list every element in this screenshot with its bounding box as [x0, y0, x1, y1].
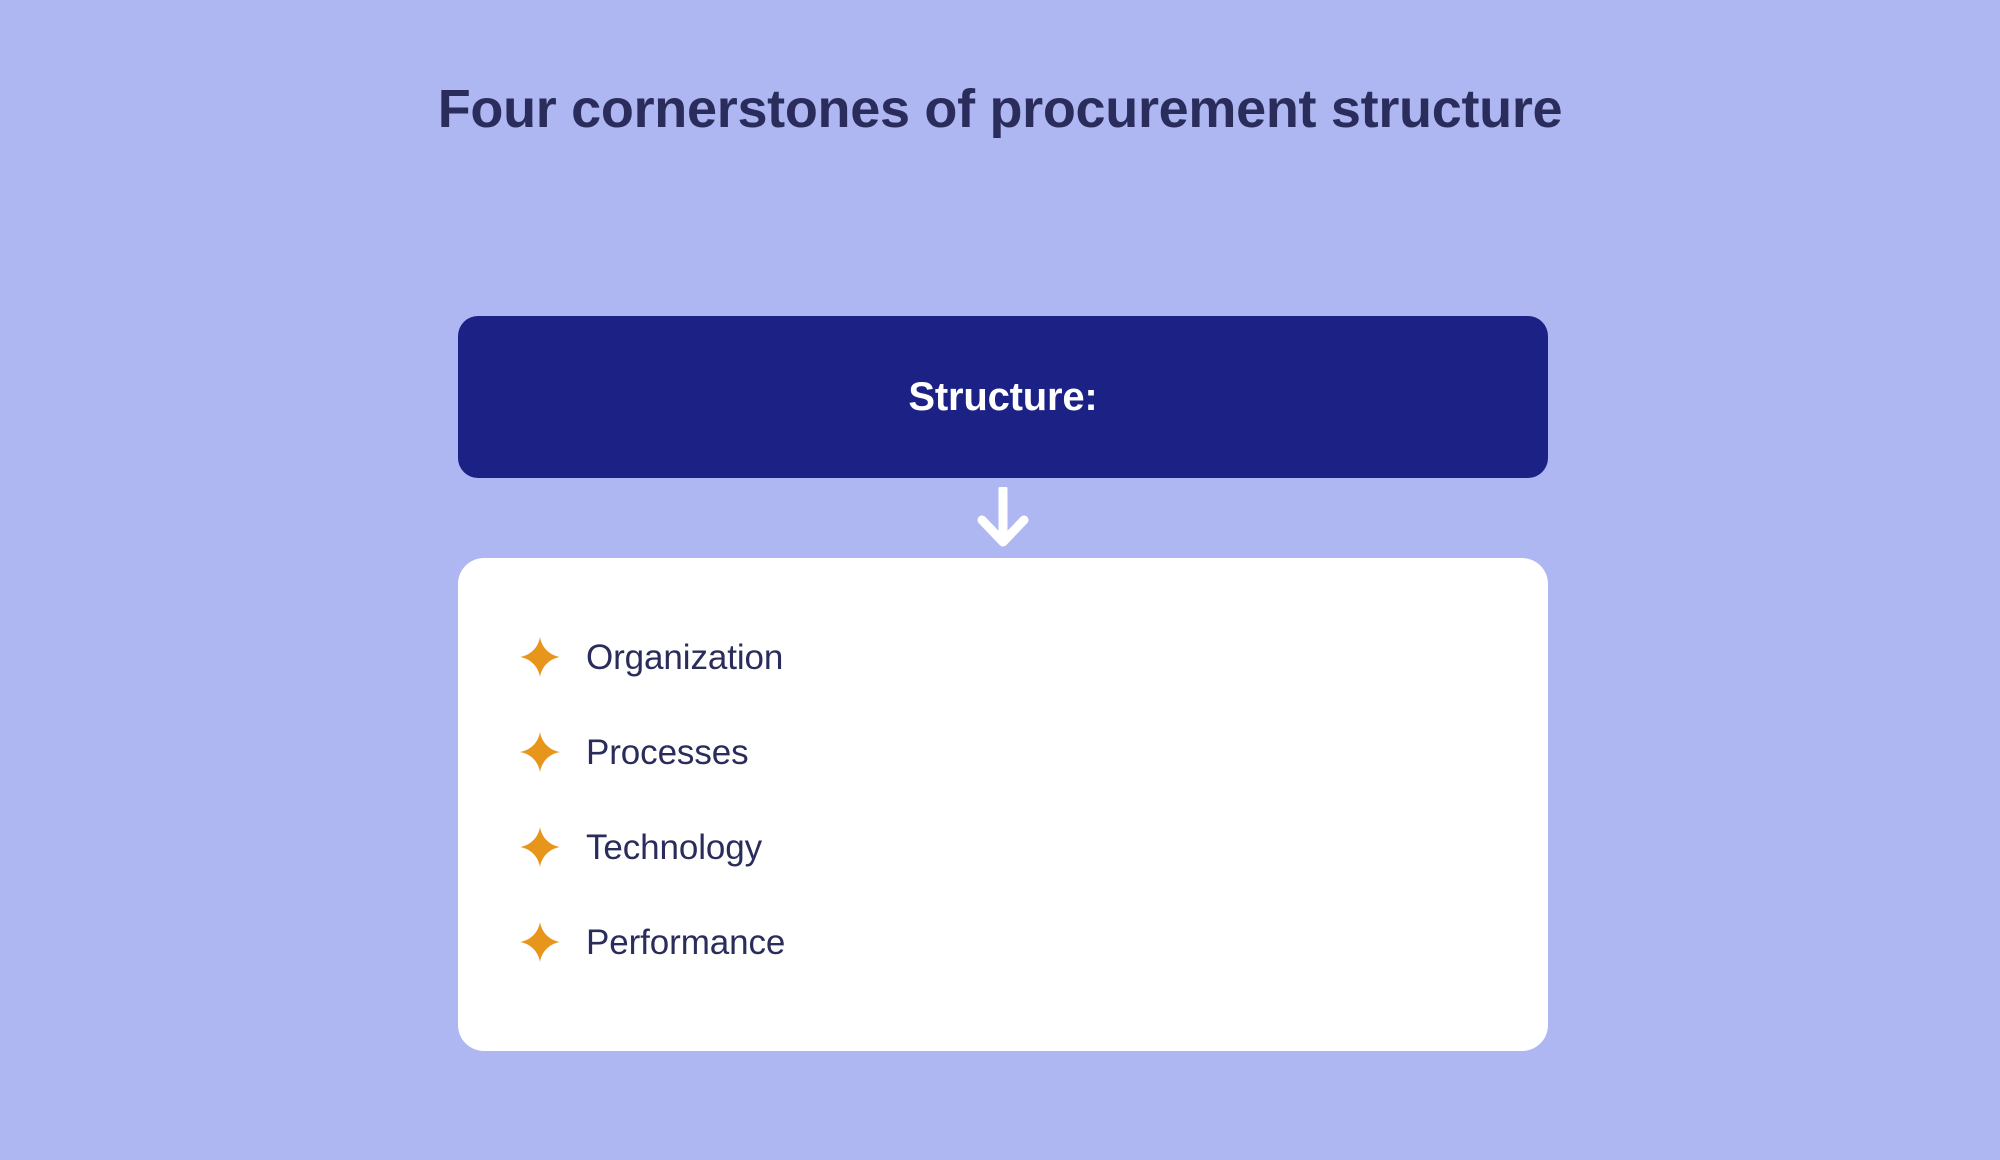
list-item-label: Technology: [586, 830, 762, 865]
slide-canvas: Four cornerstones of procurement structu…: [0, 0, 2000, 1160]
page-title: Four cornerstones of procurement structu…: [420, 78, 1580, 141]
sparkle-star-icon: [520, 637, 560, 677]
list-item[interactable]: Organization: [520, 620, 1548, 694]
list-item-label: Processes: [586, 735, 749, 770]
list-item-label: Organization: [586, 640, 783, 675]
cornerstones-card: Organization Processes Technology: [458, 558, 1548, 1051]
sparkle-star-icon: [520, 827, 560, 867]
structure-header-label: Structure:: [908, 375, 1097, 420]
structure-flow-diagram: Structure: Organization: [458, 316, 1548, 1051]
list-item-label: Performance: [586, 925, 785, 960]
flow-connector: [458, 478, 1548, 558]
sparkle-star-icon: [520, 922, 560, 962]
arrow-down-icon: [975, 487, 1031, 549]
structure-header-box[interactable]: Structure:: [458, 316, 1548, 478]
list-item[interactable]: Technology: [520, 810, 1548, 884]
sparkle-star-icon: [520, 732, 560, 772]
cornerstones-list: Organization Processes Technology: [520, 620, 1548, 979]
list-item[interactable]: Processes: [520, 715, 1548, 789]
list-item[interactable]: Performance: [520, 905, 1548, 979]
